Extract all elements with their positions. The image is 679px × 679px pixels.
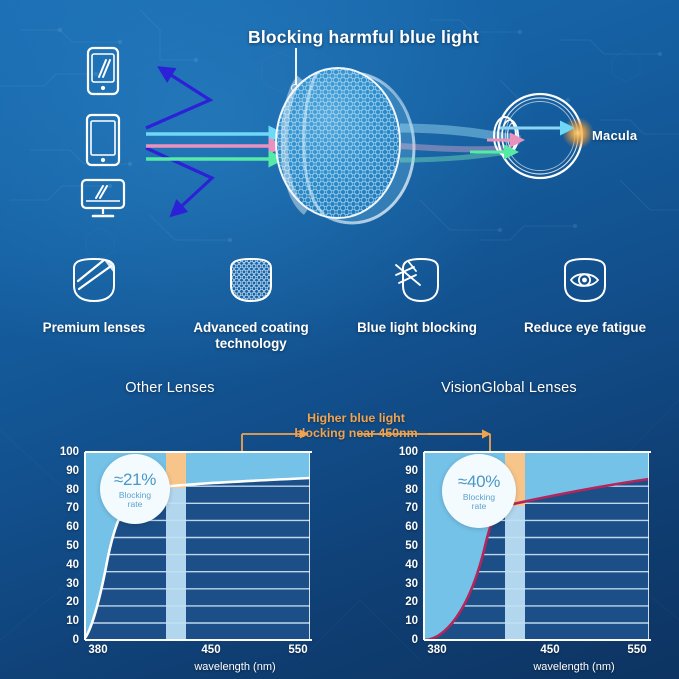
y-tick: 10 — [386, 615, 418, 627]
y-axis-ticks: 100 90 80 70 60 50 40 30 20 10 0 — [47, 444, 79, 648]
feature-label: Premium lenses — [9, 320, 179, 336]
y-tick: 50 — [386, 540, 418, 552]
light-path-diagram — [0, 0, 679, 250]
y-axis-ticks: 100 90 80 70 60 50 40 30 20 10 0 — [386, 444, 418, 648]
y-tick: 30 — [47, 578, 79, 590]
blue-light-blocking-lens-icon — [332, 252, 502, 308]
x-tick: 550 — [288, 644, 307, 656]
blocking-rate-value: ≈40% — [458, 472, 500, 492]
eye-lens-icon — [500, 252, 670, 308]
chart-other-lenses: Other Lenses 100 90 80 70 60 50 40 30 20… — [0, 370, 340, 679]
y-tick: 30 — [386, 578, 418, 590]
y-tick: 90 — [386, 465, 418, 477]
blocking-rate-bubble: ≈40% Blocking rate — [442, 454, 516, 528]
x-axis-label: wavelength (nm) — [135, 661, 335, 673]
caption-line2: rate — [128, 499, 143, 509]
y-tick: 90 — [47, 465, 79, 477]
feature-advanced-coating: Advanced coating technology — [166, 252, 336, 352]
y-tick: 80 — [47, 484, 79, 496]
feature-reduce-eye-fatigue: Reduce eye fatigue — [500, 252, 670, 336]
y-tick: 100 — [386, 446, 418, 458]
x-tick: 450 — [540, 644, 559, 656]
x-tick: 380 — [88, 644, 107, 656]
x-tick: 450 — [201, 644, 220, 656]
blocking-rate-value: ≈21% — [114, 470, 156, 490]
feature-premium-lenses: Premium lenses — [9, 252, 179, 336]
premium-lens-icon — [9, 252, 179, 308]
y-tick: 60 — [47, 521, 79, 533]
chart-visionglobal-lenses: VisionGlobal Lenses 100 90 80 70 60 50 4… — [339, 370, 679, 679]
feature-label: Advanced coating technology — [166, 320, 336, 352]
hero-section: Blocking harmful blue light — [0, 0, 679, 250]
blocking-rate-caption: Blocking rate — [119, 491, 151, 509]
y-tick: 70 — [47, 502, 79, 514]
y-tick: 40 — [47, 559, 79, 571]
macula-glow — [562, 117, 594, 149]
x-tick: 380 — [427, 644, 446, 656]
features-section: Premium lenses — [0, 252, 679, 370]
blue-light-lens-infographic: Blocking harmful blue light — [0, 0, 679, 679]
y-tick: 50 — [47, 540, 79, 552]
caption-line2: rate — [472, 501, 487, 511]
blocking-rate-bubble: ≈21% Blocking rate — [100, 454, 170, 524]
blocking-rate-caption: Blocking rate — [463, 493, 495, 511]
y-tick: 20 — [47, 596, 79, 608]
feature-label: Blue light blocking — [332, 320, 502, 336]
y-tick: 80 — [386, 484, 418, 496]
x-axis-label: wavelength (nm) — [474, 661, 674, 673]
y-tick: 20 — [386, 596, 418, 608]
y-tick: 100 — [47, 446, 79, 458]
reflected-blue-ray-upper — [146, 68, 210, 128]
blue-light-lens — [276, 68, 400, 218]
x-tick: 550 — [627, 644, 646, 656]
y-tick: 60 — [386, 521, 418, 533]
y-tick: 10 — [47, 615, 79, 627]
y-tick: 40 — [386, 559, 418, 571]
y-tick: 0 — [386, 634, 418, 646]
feature-blue-light-blocking: Blue light blocking — [332, 252, 502, 336]
macula-label: Macula — [592, 128, 637, 143]
feature-label: Reduce eye fatigue — [500, 320, 670, 336]
chart-title: VisionGlobal Lenses — [339, 380, 679, 396]
y-tick: 70 — [386, 502, 418, 514]
chart-title: Other Lenses — [0, 380, 340, 396]
y-tick: 0 — [47, 634, 79, 646]
coating-mesh-lens-icon — [166, 252, 336, 308]
